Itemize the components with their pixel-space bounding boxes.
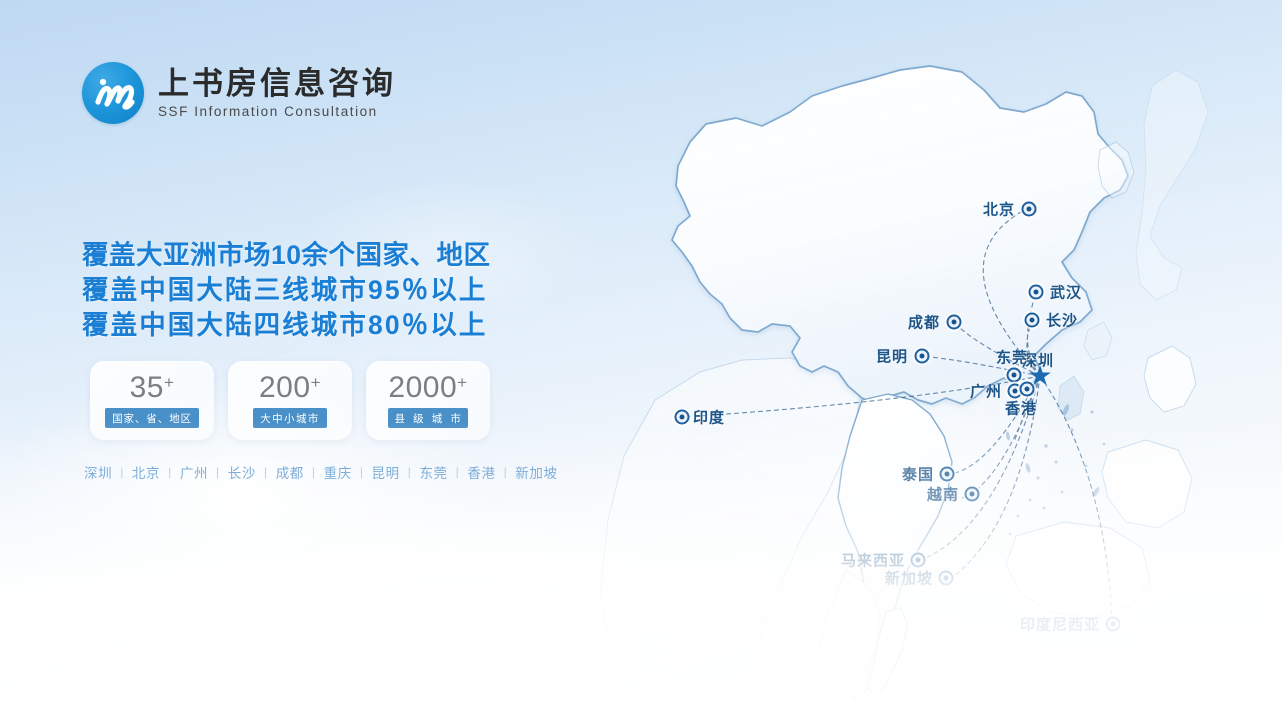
stat-number: 2000 + bbox=[388, 373, 467, 403]
stat-number-plus: + bbox=[164, 374, 174, 391]
map-pin-icon bbox=[915, 349, 930, 364]
stat-number-plus: + bbox=[311, 374, 321, 391]
brand-name-cn: 上书房信息咨询 bbox=[158, 67, 396, 102]
bottom-haze bbox=[0, 421, 1282, 721]
map-label-0: 北京 bbox=[983, 199, 1015, 220]
map-marker-4[interactable] bbox=[915, 349, 930, 364]
headline-line-1: 覆盖大亚洲市场10余个国家、地区 bbox=[82, 238, 490, 273]
map-pin-icon bbox=[1025, 313, 1040, 328]
stat-number-value: 35 bbox=[130, 373, 164, 403]
headline-line-2: 覆盖中国大陆三线城市95％以上 bbox=[82, 273, 490, 308]
stat-number: 35 + bbox=[130, 373, 175, 403]
map-marker-5[interactable] bbox=[1007, 368, 1022, 383]
headline-block: 覆盖大亚洲市场10余个国家、地区 覆盖中国大陆三线城市95％以上 覆盖中国大陆四… bbox=[82, 238, 490, 343]
stat-number-value: 2000 bbox=[388, 373, 457, 403]
stat-number-plus: + bbox=[457, 374, 467, 391]
map-label-hq: 深圳 bbox=[1022, 350, 1054, 371]
headline-line-3: 覆盖中国大陆四线城市80％以上 bbox=[82, 308, 490, 343]
poster-canvas: 上书房信息咨询 SSF Information Consultation 覆盖大… bbox=[0, 0, 1282, 721]
map-marker-2[interactable] bbox=[1025, 313, 1040, 328]
map-pin-icon bbox=[947, 315, 962, 330]
map-label-1: 武汉 bbox=[1050, 282, 1082, 303]
stat-number-value: 200 bbox=[259, 373, 311, 403]
map-label-4: 昆明 bbox=[876, 346, 908, 367]
map-pin-icon bbox=[1029, 285, 1044, 300]
brand-name-en: SSF Information Consultation bbox=[158, 104, 396, 119]
im-monogram-icon bbox=[82, 62, 144, 124]
map-marker-1[interactable] bbox=[1029, 285, 1044, 300]
map-marker-3[interactable] bbox=[947, 315, 962, 330]
brand-logo: 上书房信息咨询 SSF Information Consultation bbox=[82, 62, 396, 124]
map-marker-0[interactable] bbox=[1022, 202, 1037, 217]
map-label-7: 香港 bbox=[1005, 398, 1037, 419]
map-label-6: 广州 bbox=[970, 381, 1002, 402]
map-pin-icon bbox=[1007, 368, 1022, 383]
map-label-2: 长沙 bbox=[1046, 310, 1078, 331]
map-pin-icon bbox=[1022, 202, 1037, 217]
map-label-3: 成都 bbox=[908, 312, 940, 333]
stat-number: 200 + bbox=[259, 373, 321, 403]
